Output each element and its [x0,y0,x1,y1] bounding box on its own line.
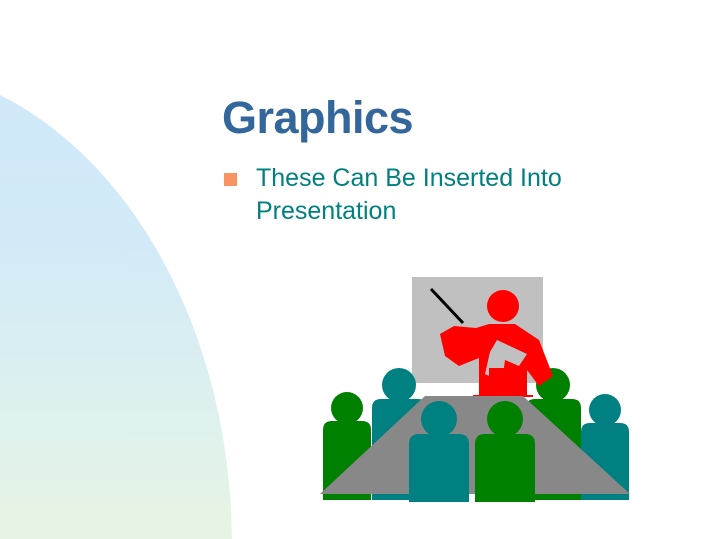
bullet-item-label: These Can Be Inserted Into Presentation [256,162,644,228]
slide-canvas: Graphics These Can Be Inserted Into Pres… [0,0,719,539]
presentation-audience-clipart [313,272,638,504]
clipart-vector [313,272,638,504]
bullet-list-item: These Can Be Inserted Into Presentation [224,162,644,228]
square-bullet-icon [224,173,237,186]
page-title: Graphics [222,92,413,144]
decorative-background-arc [0,65,232,539]
